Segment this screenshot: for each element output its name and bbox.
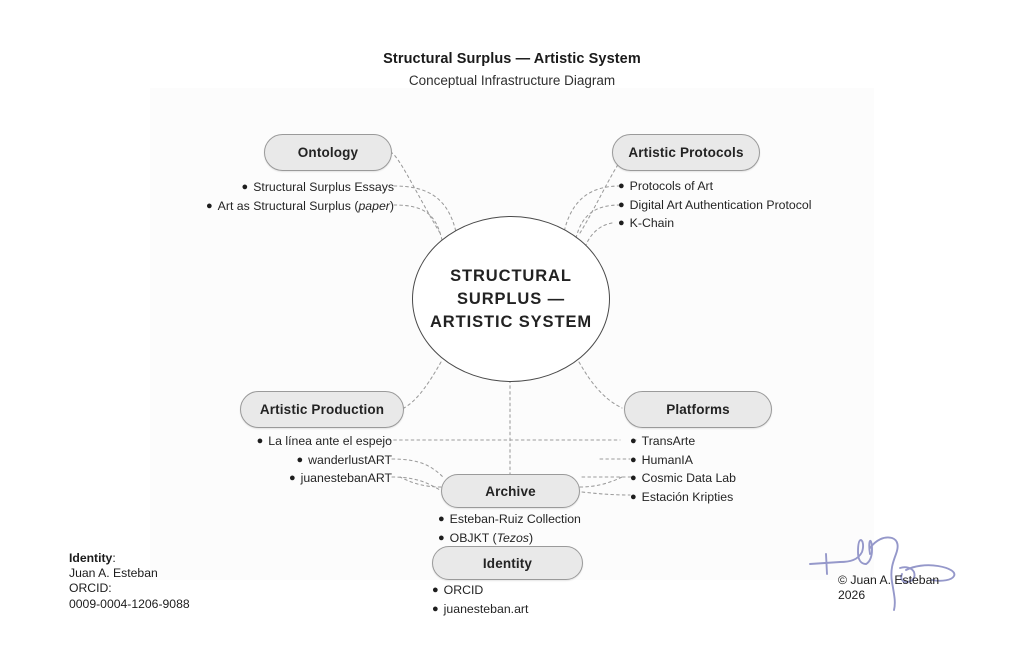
page-title: Structural Surplus — Artistic System xyxy=(0,50,1024,68)
node-artistic-protocols-label: Artistic Protocols xyxy=(628,145,743,160)
bullet-list-platforms-item-label: Cosmic Data Lab xyxy=(642,471,736,485)
bullet-list-platforms-item: ●Cosmic Data Lab xyxy=(630,469,890,488)
bullet-dot-icon: ● xyxy=(630,432,637,451)
node-identity-label: Identity xyxy=(483,556,532,571)
connector-hub-ontology xyxy=(392,153,440,233)
bullet-dot-icon: ● xyxy=(432,581,439,600)
bullet-dot-icon: ● xyxy=(618,214,625,233)
bullet-list-artistic-protocols: ●Protocols of Art●Digital Art Authentica… xyxy=(618,177,918,233)
bullet-dot-icon: ● xyxy=(257,432,264,451)
bullet-dot-icon: ● xyxy=(242,178,249,197)
bullet-list-identity-item-label: ORCID xyxy=(444,583,484,597)
identity-footer-label: Identity xyxy=(69,551,112,565)
central-hub: STRUCTURAL SURPLUS — ARTISTIC SYSTEM xyxy=(412,216,610,382)
connector-production-item-2 xyxy=(392,477,440,490)
connector-hub-production xyxy=(404,362,441,408)
connector-archive-left xyxy=(400,477,441,487)
bullet-dot-icon: ● xyxy=(630,451,637,470)
node-archive[interactable]: Archive xyxy=(441,474,580,508)
identity-footer-orcid-label: ORCID: xyxy=(69,581,190,596)
bullet-list-platforms-item: ●Estación Kripties xyxy=(630,488,890,507)
bullet-list-artistic-production-item-label: wanderlustART xyxy=(308,453,392,467)
bullet-list-identity-item: ●ORCID xyxy=(432,581,662,600)
bullet-dot-icon: ● xyxy=(618,196,625,215)
bullet-list-platforms-item: ●TransArte xyxy=(630,432,890,451)
bullet-list-identity: ●ORCID●juanesteban.art xyxy=(432,581,662,618)
node-ontology-label: Ontology xyxy=(298,145,358,160)
node-identity[interactable]: Identity xyxy=(432,546,583,580)
connector-ontology-item-0 xyxy=(394,186,456,232)
connector-archive-right xyxy=(580,477,622,487)
connector-hub-platforms xyxy=(579,362,622,408)
connector-platforms-item-3 xyxy=(582,492,630,495)
copyright-text: © Juan A. Esteban 2026 xyxy=(838,573,939,603)
bullet-list-platforms: ●TransArte●HumanIA●Cosmic Data Lab●Estac… xyxy=(630,432,890,506)
bullet-dot-icon: ● xyxy=(438,510,445,529)
bullet-list-ontology-item: ●Art as Structural Surplus (paper) xyxy=(150,197,394,216)
central-hub-label: STRUCTURAL SURPLUS — ARTISTIC SYSTEM xyxy=(430,265,592,334)
bullet-dot-icon: ● xyxy=(206,197,213,216)
node-platforms-label: Platforms xyxy=(666,402,730,417)
bullet-list-archive: ●Esteban-Ruiz Collection●OBJKT (Tezos) xyxy=(438,510,668,547)
identity-footer: Identity: Juan A. Esteban ORCID: 0009-00… xyxy=(69,551,190,612)
identity-footer-label-row: Identity: xyxy=(69,551,190,566)
bullet-list-identity-item-label: juanesteban.art xyxy=(444,602,529,616)
bullet-dot-icon: ● xyxy=(618,177,625,196)
bullet-list-artistic-protocols-item: ●K-Chain xyxy=(618,214,918,233)
bullet-dot-icon: ● xyxy=(630,469,637,488)
bullet-list-ontology-item: ●Structural Surplus Essays xyxy=(150,178,394,197)
bullet-list-artistic-protocols-item-label: Protocols of Art xyxy=(630,179,713,193)
bullet-list-archive-item-label: Esteban-Ruiz Collection xyxy=(450,512,581,526)
bullet-list-archive-item: ●Esteban-Ruiz Collection xyxy=(438,510,668,529)
title-block: Structural Surplus — Artistic System Con… xyxy=(0,50,1024,90)
bullet-list-identity-item: ●juanesteban.art xyxy=(432,600,662,619)
connector-production-item-1 xyxy=(392,459,444,478)
node-artistic-protocols[interactable]: Artistic Protocols xyxy=(612,134,760,171)
connector-protocols-item-0 xyxy=(564,186,620,232)
bullet-list-artistic-protocols-item: ●Digital Art Authentication Protocol xyxy=(618,196,918,215)
identity-footer-name: Juan A. Esteban xyxy=(69,566,190,581)
bullet-list-platforms-item: ●HumanIA xyxy=(630,451,890,470)
node-ontology[interactable]: Ontology xyxy=(264,134,392,171)
bullet-list-artistic-production-item: ●wanderlustART xyxy=(160,451,392,470)
connector-protocols-item-1 xyxy=(576,205,620,238)
identity-footer-orcid-value: 0009-0004-1206-9088 xyxy=(69,597,190,612)
identity-footer-colon: : xyxy=(112,551,115,565)
italic-qualifier: paper xyxy=(358,199,389,213)
connector-ontology-item-1 xyxy=(394,205,442,240)
bullet-dot-icon: ● xyxy=(297,451,304,470)
bullet-list-artistic-production-item-label: La línea ante el espejo xyxy=(268,434,392,448)
bullet-list-artistic-protocols-item: ●Protocols of Art xyxy=(618,177,918,196)
bullet-list-artistic-production-item: ●La línea ante el espejo xyxy=(160,432,392,451)
bullet-list-ontology: ●Structural Surplus Essays●Art as Struct… xyxy=(150,178,394,215)
node-artistic-production[interactable]: Artistic Production xyxy=(240,391,404,428)
signature-block: © Juan A. Esteban 2026 xyxy=(806,524,984,616)
bullet-list-artistic-production: ●La línea ante el espejo●wanderlustART●j… xyxy=(160,432,392,488)
node-artistic-production-label: Artistic Production xyxy=(260,402,384,417)
bullet-list-artistic-protocols-item-label: K-Chain xyxy=(630,216,674,230)
bullet-dot-icon: ● xyxy=(438,529,445,548)
connector-protocols-item-2 xyxy=(584,223,612,250)
node-archive-label: Archive xyxy=(485,484,536,499)
bullet-list-ontology-item-label: Art as Structural Surplus (paper) xyxy=(218,199,394,213)
bullet-list-archive-item-label: OBJKT (Tezos) xyxy=(450,531,533,545)
page-subtitle: Conceptual Infrastructure Diagram xyxy=(0,72,1024,90)
bullet-list-platforms-item-label: HumanIA xyxy=(642,453,693,467)
bullet-list-artistic-production-item-label: juanestebanART xyxy=(301,471,392,485)
italic-qualifier: Tezos xyxy=(497,531,529,545)
bullet-list-artistic-production-item: ●juanestebanART xyxy=(160,469,392,488)
bullet-list-ontology-item-label: Structural Surplus Essays xyxy=(253,180,394,194)
bullet-dot-icon: ● xyxy=(289,469,296,488)
bullet-dot-icon: ● xyxy=(630,488,637,507)
bullet-list-artistic-protocols-item-label: Digital Art Authentication Protocol xyxy=(630,198,812,212)
node-platforms[interactable]: Platforms xyxy=(624,391,772,428)
bullet-list-platforms-item-label: TransArte xyxy=(642,434,696,448)
bullet-list-platforms-item-label: Estación Kripties xyxy=(642,490,734,504)
bullet-dot-icon: ● xyxy=(432,600,439,619)
bullet-list-archive-item: ●OBJKT (Tezos) xyxy=(438,529,668,548)
